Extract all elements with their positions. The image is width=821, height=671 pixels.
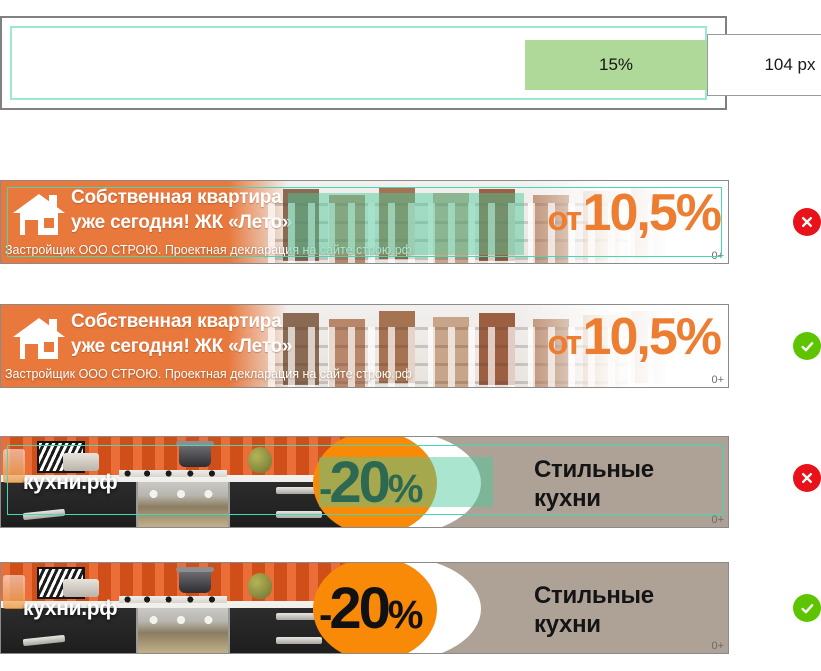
kitchen-tagline-line1: Стильные	[534, 455, 654, 484]
kitchen-tagline: Стильные кухни	[534, 581, 654, 639]
banner-row-kitchen-approved: кухни.рф -20% Стильные кухни 0+	[0, 562, 729, 654]
kitchen-tagline: Стильные кухни	[534, 455, 654, 513]
kitchen-brand: кухни.рф	[23, 597, 117, 621]
status-badge-approved[interactable]	[793, 594, 821, 622]
page-root: 15% 104 px Собственная квартира уже сего…	[0, 0, 821, 671]
realty-artwork: Собственная квартира уже сегодня! ЖК «Ле…	[1, 181, 728, 263]
drawer-handle	[276, 637, 322, 644]
realty-rate-prefix: от	[548, 200, 581, 238]
age-rating-mark: 0+	[711, 640, 724, 652]
realty-rate-value: 10,5%	[583, 308, 720, 366]
check-circle-icon	[799, 600, 816, 617]
house-icon	[11, 189, 67, 237]
realty-artwork: Собственная квартира уже сегодня! ЖК «Ле…	[1, 305, 728, 387]
vase	[248, 447, 272, 473]
realty-headline: Собственная квартира уже сегодня! ЖК «Ле…	[71, 185, 292, 235]
status-badge-approved[interactable]	[793, 332, 821, 360]
realty-rate-prefix: от	[548, 324, 581, 362]
age-rating-mark: 0+	[711, 514, 724, 526]
banner-row-realty-rejected: Собственная квартира уже сегодня! ЖК «Ле…	[0, 180, 729, 264]
banner-kitchen-rejected[interactable]: кухни.рф -20% Стильные кухни 0+	[0, 436, 729, 528]
glass-jug	[3, 575, 25, 609]
age-rating-mark: 0+	[711, 374, 724, 386]
realty-rate-value: 10,5%	[583, 184, 720, 242]
height-callout: 104 px	[707, 34, 821, 96]
age-rating-mark: 0+	[711, 250, 724, 262]
toaster	[63, 579, 99, 597]
realty-headline-line2: уже сегодня! ЖК «Лето»	[71, 210, 292, 235]
realty-headline-line2: уже сегодня! ЖК «Лето»	[71, 334, 292, 359]
height-callout-label: 104 px	[764, 55, 815, 75]
realty-headline: Собственная квартира уже сегодня! ЖК «Ле…	[71, 309, 292, 359]
realty-rate: от 10,5%	[548, 183, 720, 243]
status-badge-rejected[interactable]	[793, 208, 821, 236]
house-icon	[11, 313, 67, 361]
toaster	[63, 453, 99, 471]
banner-realty-rejected[interactable]: Собственная квартира уже сегодня! ЖК «Ле…	[0, 180, 729, 264]
realty-headline-line1: Собственная квартира	[71, 309, 292, 334]
realty-disclaimer: Застройщик ООО СТРОЮ. Проектная декларац…	[5, 243, 412, 257]
cross-circle-icon	[799, 470, 815, 486]
glass-jug	[3, 449, 25, 483]
cross-circle-icon	[799, 214, 815, 230]
realty-rate: от 10,5%	[548, 307, 720, 367]
banner-kitchen-approved[interactable]: кухни.рф -20% Стильные кухни 0+	[0, 562, 729, 654]
vase	[248, 573, 272, 599]
kitchen-brand: кухни.рф	[23, 471, 117, 495]
banner-realty-approved[interactable]: Собственная квартира уже сегодня! ЖК «Ле…	[0, 304, 729, 388]
status-badge-rejected[interactable]	[793, 464, 821, 492]
discount-percent: %	[388, 593, 423, 637]
kitchen-artwork: кухни.рф -20% Стильные кухни 0+	[1, 563, 728, 653]
kitchen-artwork: кухни.рф -20% Стильные кухни 0+	[1, 437, 728, 527]
oven-knobs	[143, 615, 219, 625]
kitchen-tagline-line2: кухни	[534, 484, 654, 513]
discount-minus: -	[319, 593, 329, 637]
green-area-label: 15%	[599, 55, 633, 75]
discount-text: -20%	[319, 575, 422, 642]
banner-row-realty-approved: Собственная квартира уже сегодня! ЖК «Ле…	[0, 304, 729, 388]
realty-disclaimer: Застройщик ООО СТРОЮ. Проектная декларац…	[5, 367, 412, 381]
kitchen-tagline-line2: кухни	[534, 610, 654, 639]
discount-text: -20%	[319, 449, 422, 516]
drawer-handle	[276, 511, 322, 518]
discount-minus: -	[319, 467, 329, 511]
check-circle-icon	[799, 338, 816, 355]
kitchen-tagline-line1: Стильные	[534, 581, 654, 610]
green-area-block: 15%	[525, 40, 707, 90]
discount-percent: %	[388, 467, 423, 511]
gas-hob	[119, 596, 227, 603]
discount-number: 20	[329, 576, 388, 641]
cooking-pot	[179, 445, 211, 467]
cooking-pot	[179, 571, 211, 593]
banner-row-kitchen-rejected: кухни.рф -20% Стильные кухни 0+	[0, 436, 729, 528]
realty-headline-line1: Собственная квартира	[71, 185, 292, 210]
discount-number: 20	[329, 450, 388, 515]
gas-hob	[119, 470, 227, 477]
oven-knobs	[143, 489, 219, 499]
